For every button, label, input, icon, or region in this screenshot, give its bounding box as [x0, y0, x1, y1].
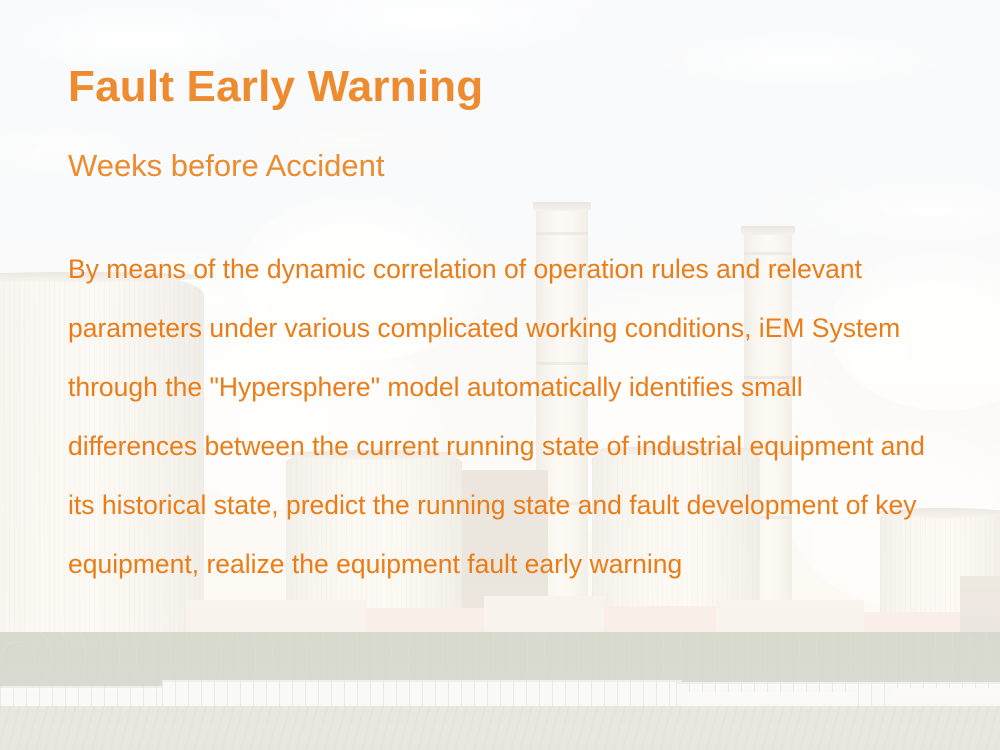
slide-canvas: Fault Early Warning Weeks before Acciden…: [0, 0, 1000, 750]
slide-content: Fault Early Warning Weeks before Acciden…: [68, 0, 940, 750]
body-paragraph: By means of the dynamic correlation of o…: [68, 240, 928, 594]
page-title: Fault Early Warning: [68, 62, 483, 112]
page-subtitle: Weeks before Accident: [68, 148, 385, 184]
